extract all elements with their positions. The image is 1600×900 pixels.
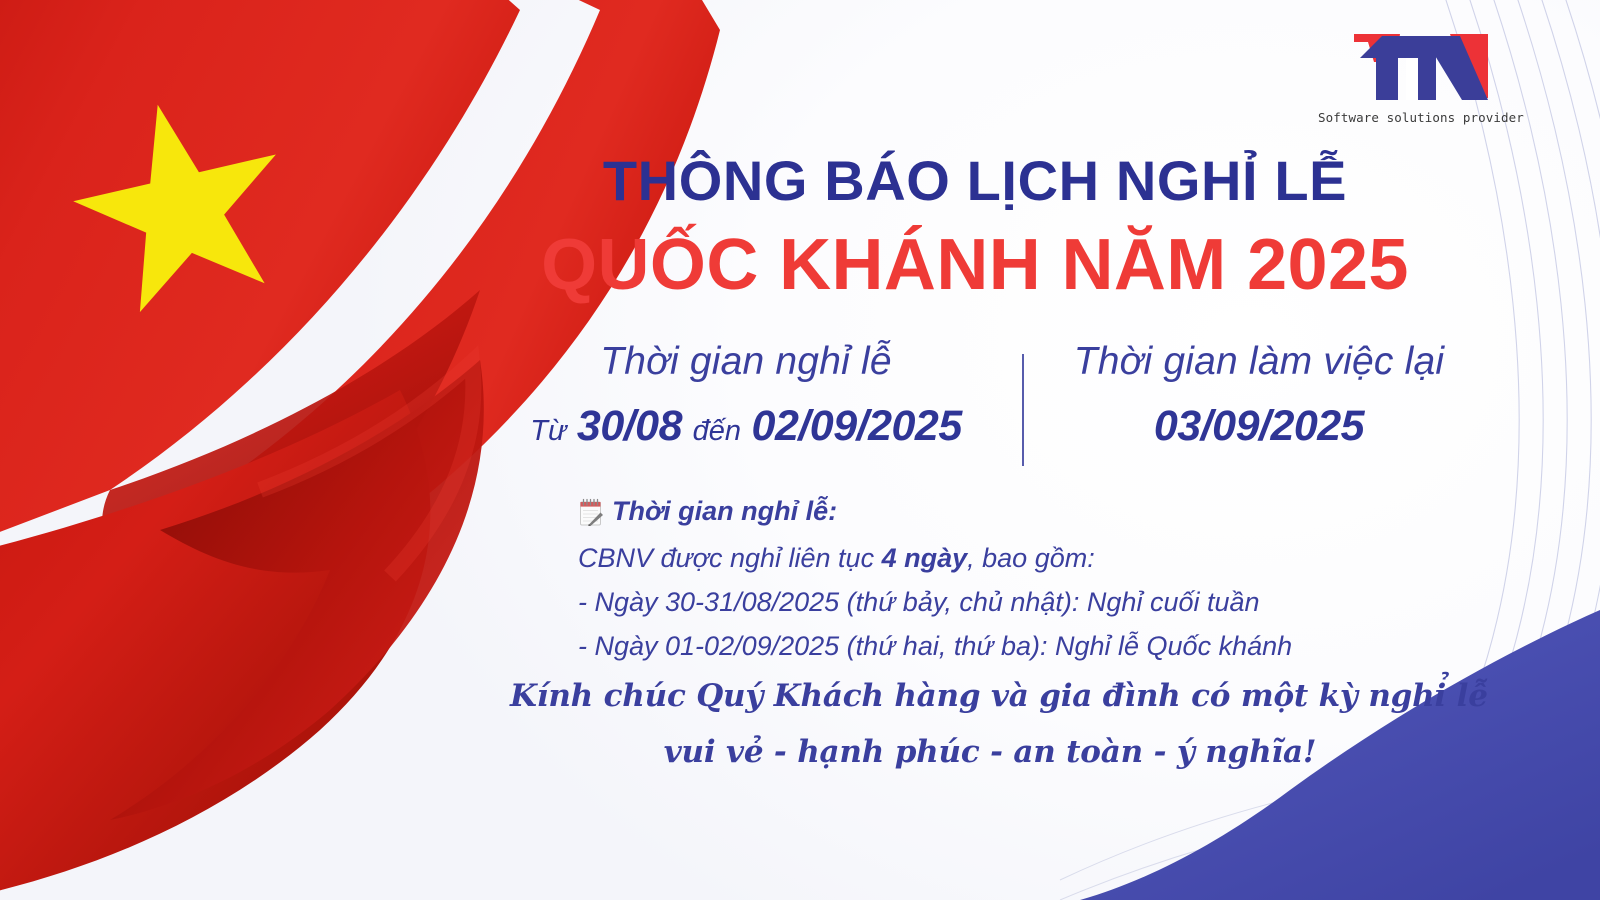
holiday-period-column: Thời gian nghỉ lễ Từ 30/08 đến 02/09/202… bbox=[470, 340, 1022, 451]
holiday-announcement-banner: Software solutions provider THÔNG BÁO LỊ… bbox=[0, 0, 1600, 900]
return-date-column: Thời gian làm việc lại 03/09/2025 bbox=[1024, 340, 1494, 451]
greeting-line: vui vẻ - hạnh phúc - an toàn - ý nghĩa! bbox=[510, 724, 1470, 780]
headline-secondary: QUỐC KHÁNH NĂM 2025 bbox=[470, 228, 1480, 304]
details-block: Thời gian nghỉ lễ: CBNV được nghỉ liên t… bbox=[578, 496, 1438, 662]
greeting-line: Kính chúc Quý Khách hàng và gia đình có … bbox=[510, 668, 1470, 724]
summary-suffix: , bao gồm: bbox=[967, 543, 1095, 573]
return-date-label: Thời gian làm việc lại bbox=[1024, 340, 1494, 384]
holiday-start-date: 30/08 bbox=[577, 402, 682, 450]
column-divider bbox=[1022, 354, 1024, 466]
summary-prefix: CBNV được nghỉ liên tục bbox=[578, 543, 874, 573]
details-item: - Ngày 30-31/08/2025 (thứ bảy, chủ nhật)… bbox=[578, 587, 1438, 618]
holiday-end-date: 02/09/2025 bbox=[752, 402, 962, 450]
content-column: THÔNG BÁO LỊCH NGHỈ LỄ QUỐC KHÁNH NĂM 20… bbox=[470, 0, 1510, 900]
details-heading-row: Thời gian nghỉ lễ: bbox=[578, 496, 1438, 527]
spiral-notepad-icon bbox=[578, 498, 603, 526]
details-summary: CBNV được nghỉ liên tục 4 ngày, bao gồm: bbox=[578, 543, 1438, 574]
return-date-value: 03/09/2025 bbox=[1024, 402, 1494, 451]
holiday-period-value: Từ 30/08 đến 02/09/2025 bbox=[470, 402, 1022, 451]
holiday-prefix: Từ bbox=[530, 415, 566, 447]
schedule-row: Thời gian nghỉ lễ Từ 30/08 đến 02/09/202… bbox=[470, 340, 1500, 466]
details-heading: Thời gian nghỉ lễ: bbox=[612, 496, 837, 527]
headline-primary: THÔNG BÁO LỊCH NGHỈ LỄ bbox=[470, 152, 1480, 211]
holiday-connector: đến bbox=[693, 415, 741, 447]
greeting-block: Kính chúc Quý Khách hàng và gia đình có … bbox=[510, 668, 1470, 781]
return-date: 03/09/2025 bbox=[1154, 402, 1364, 450]
holiday-period-label: Thời gian nghỉ lễ bbox=[470, 340, 1022, 384]
details-item: - Ngày 01-02/09/2025 (thứ hai, thứ ba): … bbox=[578, 631, 1438, 662]
summary-days-count: 4 ngày bbox=[882, 543, 968, 573]
